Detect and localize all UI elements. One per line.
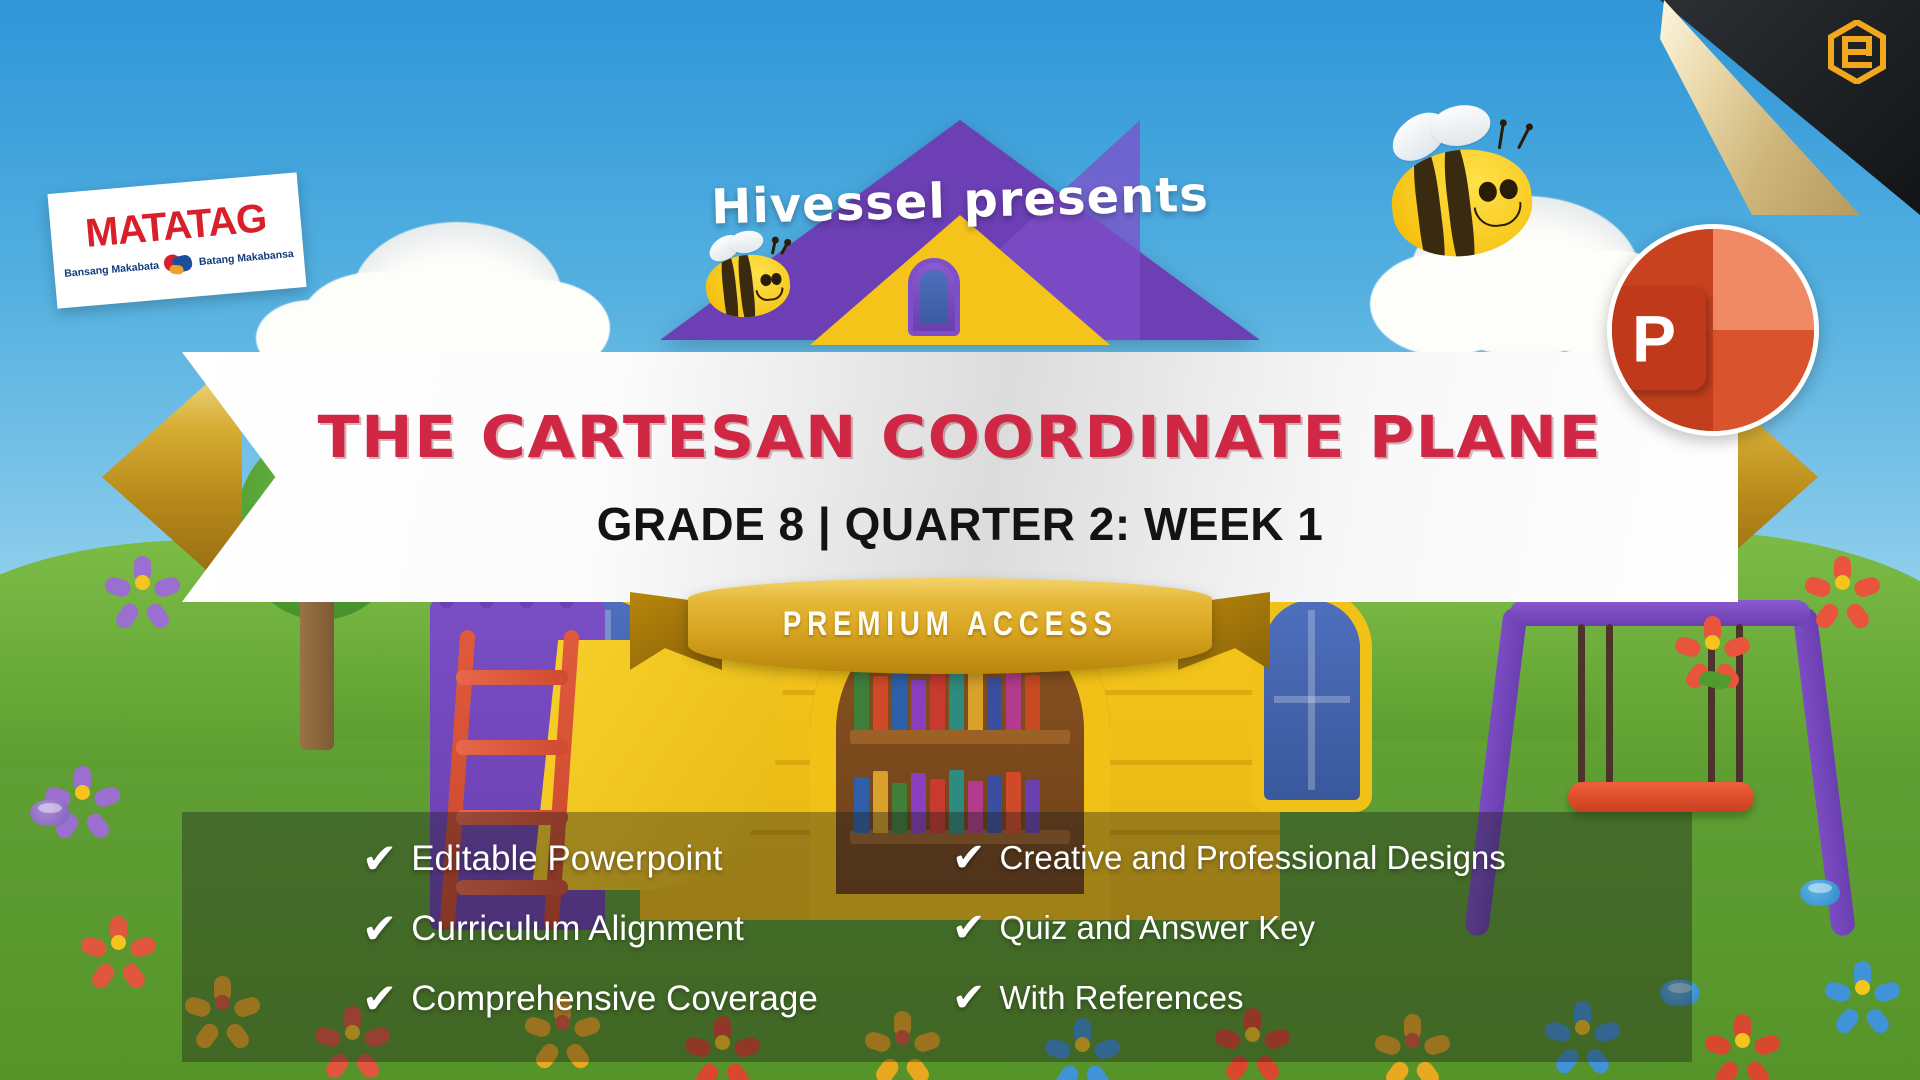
powerpoint-letter: P	[1632, 305, 1676, 371]
page-title: THE CARTESAN COORDINATE PLANE	[318, 403, 1603, 471]
tree-trunk	[300, 590, 334, 750]
matatag-tagline-right: Batang Makabansa	[198, 248, 294, 268]
list-item: ✔ Quiz and Answer Key	[952, 908, 1692, 948]
ribbon-band: PREMIUM ACCESS	[688, 578, 1212, 674]
playhouse-gable	[810, 215, 1110, 345]
list-item: ✔ Creative and Professional Designs	[952, 838, 1692, 878]
list-item: ✔ Curriculum Alignment	[362, 908, 922, 950]
feature-label: Creative and Professional Designs	[1000, 839, 1506, 877]
features-column-right: ✔ Creative and Professional Designs ✔ Qu…	[922, 838, 1692, 1062]
bug-icon	[1800, 880, 1840, 906]
playhouse-side-window	[1264, 600, 1360, 800]
check-icon: ✔	[952, 838, 986, 878]
banner-body: THE CARTESAN COORDINATE PLANE GRADE 8 | …	[182, 352, 1738, 602]
feature-label: Comprehensive Coverage	[411, 979, 818, 1019]
page-subtitle: GRADE 8 | QUARTER 2: WEEK 1	[597, 497, 1324, 551]
flower-icon	[1840, 965, 1884, 1009]
matatag-tagline-left: Bansang Makabata	[64, 260, 160, 280]
flower-icon	[1690, 620, 1734, 664]
list-item: ✔ Editable Powerpoint	[362, 838, 922, 880]
matatag-wordmark: MATATAG	[84, 198, 268, 254]
title-banner: THE CARTESAN COORDINATE PLANE GRADE 8 | …	[120, 352, 1800, 602]
features-column-left: ✔ Editable Powerpoint ✔ Curriculum Align…	[182, 838, 922, 1062]
playhouse-window	[908, 258, 960, 336]
features-panel: ✔ Editable Powerpoint ✔ Curriculum Align…	[182, 812, 1692, 1062]
hive-hexagon-icon	[1828, 20, 1886, 84]
check-icon: ✔	[952, 908, 986, 948]
check-icon: ✔	[362, 908, 397, 950]
feature-label: Editable Powerpoint	[411, 839, 722, 879]
feature-label: Quiz and Answer Key	[1000, 909, 1316, 947]
clasped-hands-icon	[163, 252, 195, 277]
feature-label: With References	[1000, 979, 1244, 1017]
bee-icon	[703, 251, 793, 321]
bee-icon	[1386, 142, 1538, 264]
powerpoint-icon: P	[1607, 224, 1819, 436]
powerpoint-tile: P	[1612, 286, 1706, 390]
premium-access-ribbon: PREMIUM ACCESS	[630, 578, 1270, 703]
feature-label: Curriculum Alignment	[411, 909, 744, 949]
matatag-logo-card: MATATAG Bansang Makabata Batang Makabans…	[47, 172, 306, 308]
cloud-icon	[1370, 252, 1520, 356]
flower-icon	[1720, 1018, 1764, 1062]
flower-icon	[96, 920, 140, 964]
flower-icon	[1820, 560, 1864, 604]
list-item: ✔ With References	[952, 978, 1692, 1018]
bug-icon	[30, 800, 70, 826]
list-item: ✔ Comprehensive Coverage	[362, 978, 922, 1020]
ribbon-label: PREMIUM ACCESS	[783, 605, 1118, 644]
check-icon: ✔	[952, 978, 986, 1018]
page-curl-corner	[1660, 0, 1920, 215]
check-icon: ✔	[362, 978, 397, 1020]
check-icon: ✔	[362, 838, 397, 880]
